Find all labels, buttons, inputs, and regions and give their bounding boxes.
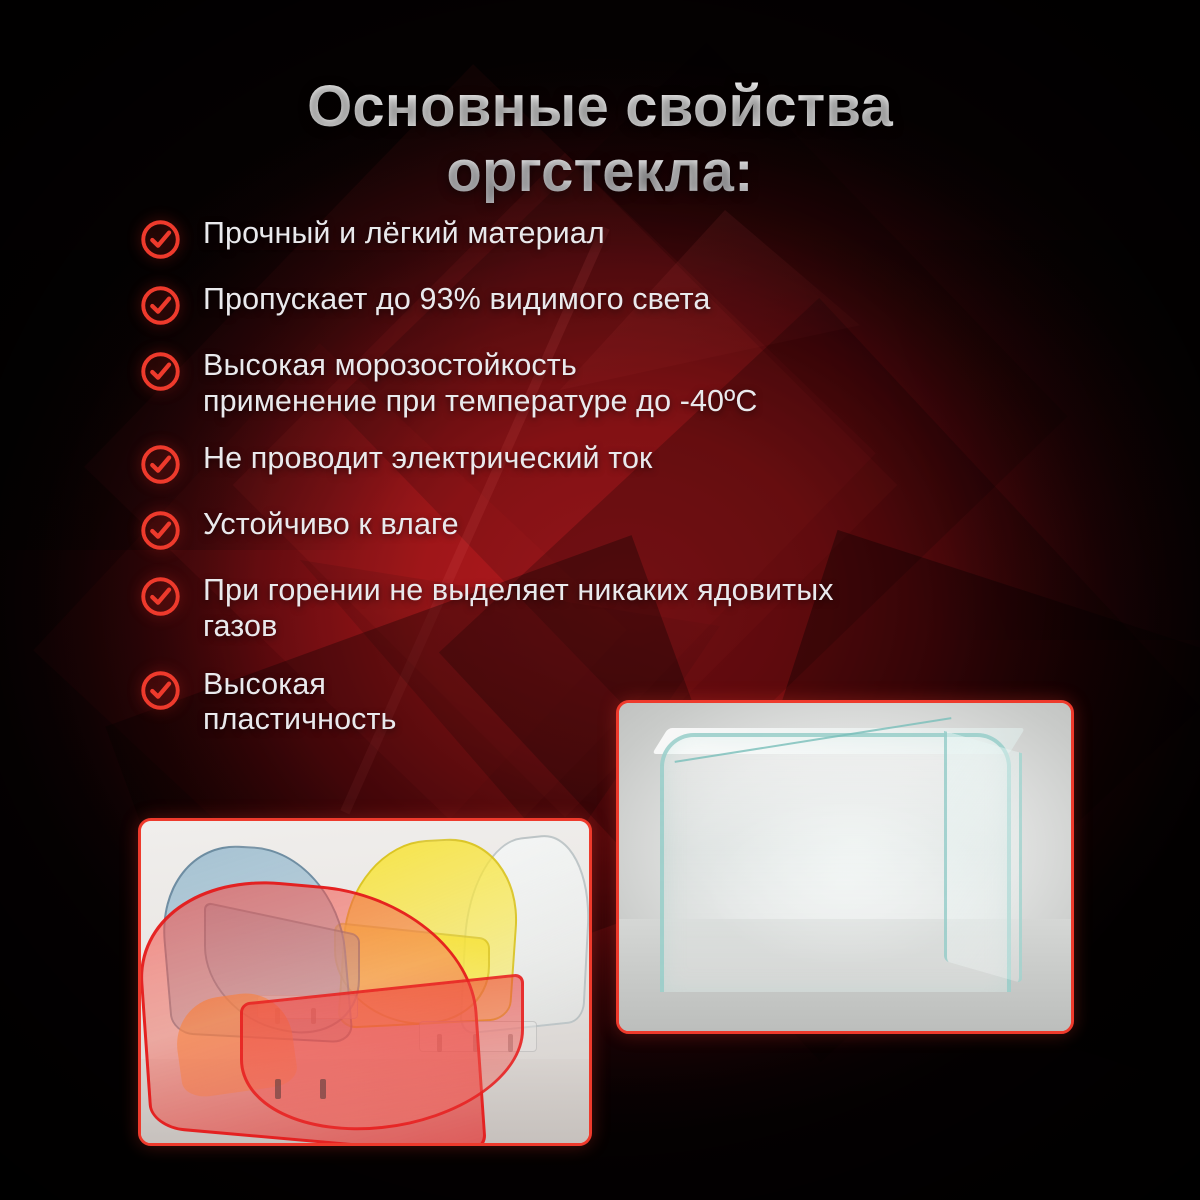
check-circle-icon xyxy=(140,670,181,711)
list-item-label: Прочный и лёгкий материал xyxy=(203,216,605,252)
acrylic-chairs-illustration xyxy=(141,821,589,1143)
list-item-label: Высокая морозостойкость применение при т… xyxy=(203,348,757,419)
check-circle-icon xyxy=(140,351,181,392)
list-item: Высокая морозостойкость применение при т… xyxy=(140,348,1100,419)
list-item: Пропускает до 93% видимого света xyxy=(140,282,1100,326)
features-list: Прочный и лёгкий материал Пропускает до … xyxy=(140,216,1100,760)
check-circle-icon xyxy=(140,576,181,617)
check-circle-icon xyxy=(140,285,181,326)
list-item-label: Устойчиво к влаге xyxy=(203,507,459,543)
poster: Основные свойства оргстекла: Прочный и л… xyxy=(0,0,1200,1200)
check-circle-icon xyxy=(140,219,181,260)
acrylic-chairs-photo xyxy=(138,818,592,1146)
list-item-label: При горении не выделяет никаких ядовитых… xyxy=(203,573,834,644)
list-item: Прочный и лёгкий материал xyxy=(140,216,1100,260)
list-item: Не проводит электрический ток xyxy=(140,441,1100,485)
check-circle-icon xyxy=(140,510,181,551)
acrylic-table-photo xyxy=(616,700,1074,1034)
list-item: Устойчиво к влаге xyxy=(140,507,1100,551)
acrylic-table-illustration xyxy=(619,703,1071,1031)
check-circle-icon xyxy=(140,444,181,485)
list-item: При горении не выделяет никаких ядовитых… xyxy=(140,573,1100,644)
list-item-label: Высокая пластичность xyxy=(203,667,397,738)
list-item-label: Не проводит электрический ток xyxy=(203,441,652,477)
list-item-label: Пропускает до 93% видимого света xyxy=(203,282,710,318)
page-title: Основные свойства оргстекла: xyxy=(0,75,1200,205)
